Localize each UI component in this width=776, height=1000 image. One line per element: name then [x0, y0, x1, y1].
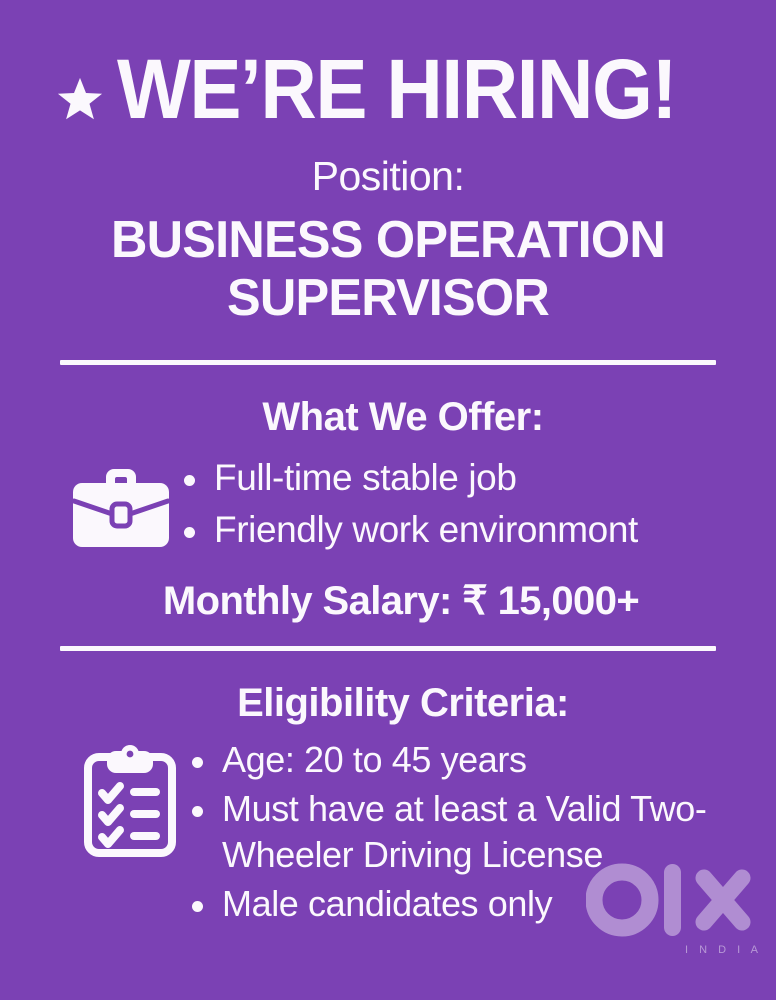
position-label: Position:	[0, 154, 776, 199]
list-item: Age: 20 to 45 years	[188, 737, 776, 784]
olx-watermark-country: I N D I A	[685, 944, 762, 956]
clipboard-icon-cell	[72, 737, 188, 859]
hiring-poster: WE’RE HIRING! Position: BUSINESS OPERATI…	[0, 0, 776, 1000]
briefcase-icon	[68, 459, 174, 551]
divider-top	[60, 360, 716, 365]
eligibility-row: Age: 20 to 45 years Must have at least a…	[0, 737, 776, 930]
star-icon	[57, 76, 103, 122]
position-title-line-1: BUSINESS OPERATION	[12, 211, 765, 269]
clipboard-checklist-icon	[80, 743, 180, 859]
list-item: Must have at least a Valid Two-Wheeler D…	[188, 786, 776, 880]
eligibility-heading: Eligibility Criteria:	[0, 681, 776, 725]
position-title-line-2: SUPERVISOR	[12, 269, 765, 327]
list-item: Friendly work environmont	[180, 505, 776, 554]
eligibility-list: Age: 20 to 45 years Must have at least a…	[188, 737, 776, 930]
page-title: WE’RE HIRING!	[117, 50, 676, 130]
list-item: Male candidates only	[188, 881, 776, 928]
offer-heading: What We Offer:	[0, 395, 776, 439]
list-item: Full-time stable job	[180, 453, 776, 502]
divider-bottom	[60, 646, 716, 651]
briefcase-icon-cell	[62, 459, 180, 551]
headline-row: WE’RE HIRING!	[0, 0, 776, 130]
offer-row: Full-time stable job Friendly work envir…	[0, 453, 776, 555]
offer-list: Full-time stable job Friendly work envir…	[180, 453, 776, 555]
position-title: BUSINESS OPERATION SUPERVISOR	[12, 211, 765, 327]
salary-text: Monthly Salary: ₹ 15,000+	[0, 578, 776, 624]
